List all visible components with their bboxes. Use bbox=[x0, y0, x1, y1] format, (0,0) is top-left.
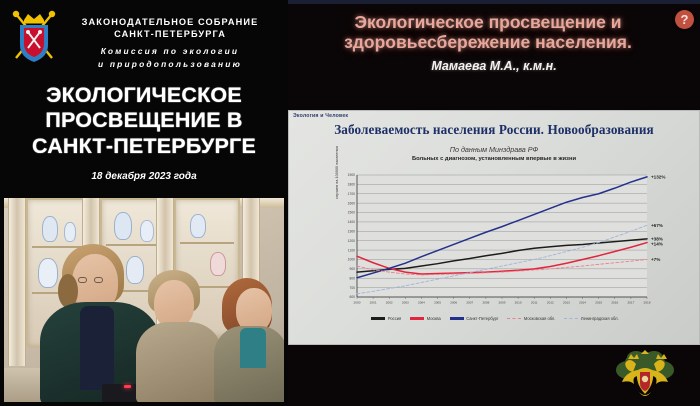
svg-text:2013: 2013 bbox=[563, 301, 570, 305]
svg-text:2001: 2001 bbox=[370, 301, 377, 305]
person-attendee bbox=[214, 278, 284, 402]
svg-text:1800: 1800 bbox=[348, 183, 356, 187]
chart-watermark: Экология и Человек bbox=[293, 113, 348, 119]
svg-text:1500: 1500 bbox=[348, 211, 356, 215]
legend-label: Московская обл. bbox=[524, 316, 556, 321]
left-header: ЗАКОНОДАТЕЛЬНОЕ СОБРАНИЕ САНКТ-ПЕТЕРБУРГ… bbox=[0, 0, 288, 192]
page-title: ЭКОЛОГИЧЕСКОЕ ПРОСВЕЩЕНИЕ В САНКТ-ПЕТЕРБ… bbox=[8, 83, 280, 159]
legend-item: Москва bbox=[410, 316, 440, 321]
chart-subtitle-detail: Больных с диагнозом, установленным вперв… bbox=[289, 156, 699, 162]
legend-label: Москва bbox=[427, 316, 441, 321]
legend-item: Московская обл. bbox=[507, 316, 555, 321]
commission-line1: Комиссия по экологии bbox=[60, 46, 280, 56]
svg-text:700: 700 bbox=[349, 286, 355, 290]
legend-swatch bbox=[410, 317, 424, 319]
svg-text:2004: 2004 bbox=[418, 301, 425, 305]
svg-text:2012: 2012 bbox=[547, 301, 554, 305]
svg-text:2007: 2007 bbox=[466, 301, 473, 305]
slide-author: Мамаева М.А., к.м.н. bbox=[288, 59, 700, 73]
page-title-line1: ЭКОЛОГИЧЕСКОЕ bbox=[8, 83, 280, 108]
slide-panel: ? Экологическое просвещение и здоровьесб… bbox=[288, 0, 700, 406]
chart-title: Заболеваемость населения России. Новообр… bbox=[289, 111, 699, 138]
chart-y-axis-label: случаев на 100000 населения bbox=[335, 146, 339, 199]
legend-swatch bbox=[564, 318, 578, 319]
legend-item: Россия bbox=[371, 316, 401, 321]
svg-text:2018: 2018 bbox=[644, 301, 651, 305]
legend-label: Санкт-Петербург bbox=[466, 316, 498, 321]
svg-text:600: 600 bbox=[349, 295, 355, 299]
svg-text:2017: 2017 bbox=[627, 301, 634, 305]
commission-line2: и природопользованию bbox=[60, 59, 280, 69]
legend-item: Ленинградская обл. bbox=[564, 316, 618, 321]
chart-svg: 6007008009001000110012001300140015001600… bbox=[341, 171, 691, 311]
svg-text:1600: 1600 bbox=[348, 201, 356, 205]
svg-text:800: 800 bbox=[349, 276, 355, 280]
left-title-panel: ЗАКОНОДАТЕЛЬНОЕ СОБРАНИЕ САНКТ-ПЕТЕРБУРГ… bbox=[0, 0, 288, 406]
legend-label: Россия bbox=[388, 316, 401, 321]
saint-petersburg-coat-of-arms-icon bbox=[8, 8, 60, 66]
chart-annotation: +14% bbox=[651, 242, 663, 247]
svg-text:2000: 2000 bbox=[354, 301, 361, 305]
org-name-line1: ЗАКОНОДАТЕЛЬНОЕ СОБРАНИЕ bbox=[60, 17, 280, 27]
svg-text:2011: 2011 bbox=[531, 301, 538, 305]
svg-text:1900: 1900 bbox=[348, 173, 356, 177]
svg-text:2016: 2016 bbox=[611, 301, 618, 305]
svg-text:1300: 1300 bbox=[348, 230, 356, 234]
svg-text:2010: 2010 bbox=[515, 301, 522, 305]
svg-text:900: 900 bbox=[349, 267, 355, 271]
svg-text:2009: 2009 bbox=[499, 301, 506, 305]
legend-item: Санкт-Петербург bbox=[450, 316, 499, 321]
russian-double-headed-eagle-icon bbox=[608, 350, 682, 402]
svg-text:2002: 2002 bbox=[386, 301, 393, 305]
svg-text:2015: 2015 bbox=[595, 301, 602, 305]
svg-text:1100: 1100 bbox=[348, 248, 355, 252]
chart-annotation: +67% bbox=[651, 223, 663, 228]
org-name-line2: САНКТ-ПЕТЕРБУРГА bbox=[60, 29, 280, 39]
svg-text:1700: 1700 bbox=[348, 192, 356, 196]
chart-legend: РоссияМоскваСанкт-ПетербургМосковская об… bbox=[289, 316, 700, 321]
meeting-photo bbox=[4, 198, 284, 402]
legend-swatch bbox=[450, 317, 464, 319]
svg-text:2014: 2014 bbox=[579, 301, 586, 305]
chart-slide: Экология и Человек Заболеваемость населе… bbox=[288, 110, 700, 345]
svg-text:1000: 1000 bbox=[348, 258, 356, 262]
chart-plot-area: случаев на 100000 населения 600700800900… bbox=[289, 169, 700, 309]
svg-text:1200: 1200 bbox=[348, 239, 356, 243]
legend-label: Ленинградская обл. bbox=[581, 316, 619, 321]
page-title-line2: ПРОСВЕЩЕНИЕ В bbox=[8, 108, 280, 133]
legend-swatch bbox=[371, 317, 385, 319]
slide-title: Экологическое просвещение и здоровьесбер… bbox=[288, 4, 700, 53]
slide-title-line1: Экологическое просвещение и bbox=[302, 12, 674, 32]
svg-text:2005: 2005 bbox=[434, 301, 441, 305]
legend-swatch bbox=[507, 318, 521, 319]
chart-annotation: +132% bbox=[651, 174, 665, 179]
page-title-line3: САНКТ-ПЕТЕРБУРГЕ bbox=[8, 134, 280, 159]
chart-subtitle-source: По данным Минздрава РФ bbox=[289, 145, 699, 154]
event-date: 18 декабря 2023 года bbox=[8, 171, 280, 182]
svg-text:2003: 2003 bbox=[402, 301, 409, 305]
slide-title-line2: здоровьесбережение населения. bbox=[302, 32, 674, 52]
svg-text:2008: 2008 bbox=[482, 301, 489, 305]
person-attendee bbox=[136, 270, 222, 402]
presentation-screenshot: ЗАКОНОДАТЕЛЬНОЕ СОБРАНИЕ САНКТ-ПЕТЕРБУРГ… bbox=[0, 0, 700, 406]
svg-text:1400: 1400 bbox=[348, 220, 356, 224]
svg-text:2006: 2006 bbox=[450, 301, 457, 305]
help-icon[interactable]: ? bbox=[675, 10, 694, 29]
chart-annotation: +7% bbox=[651, 257, 660, 262]
